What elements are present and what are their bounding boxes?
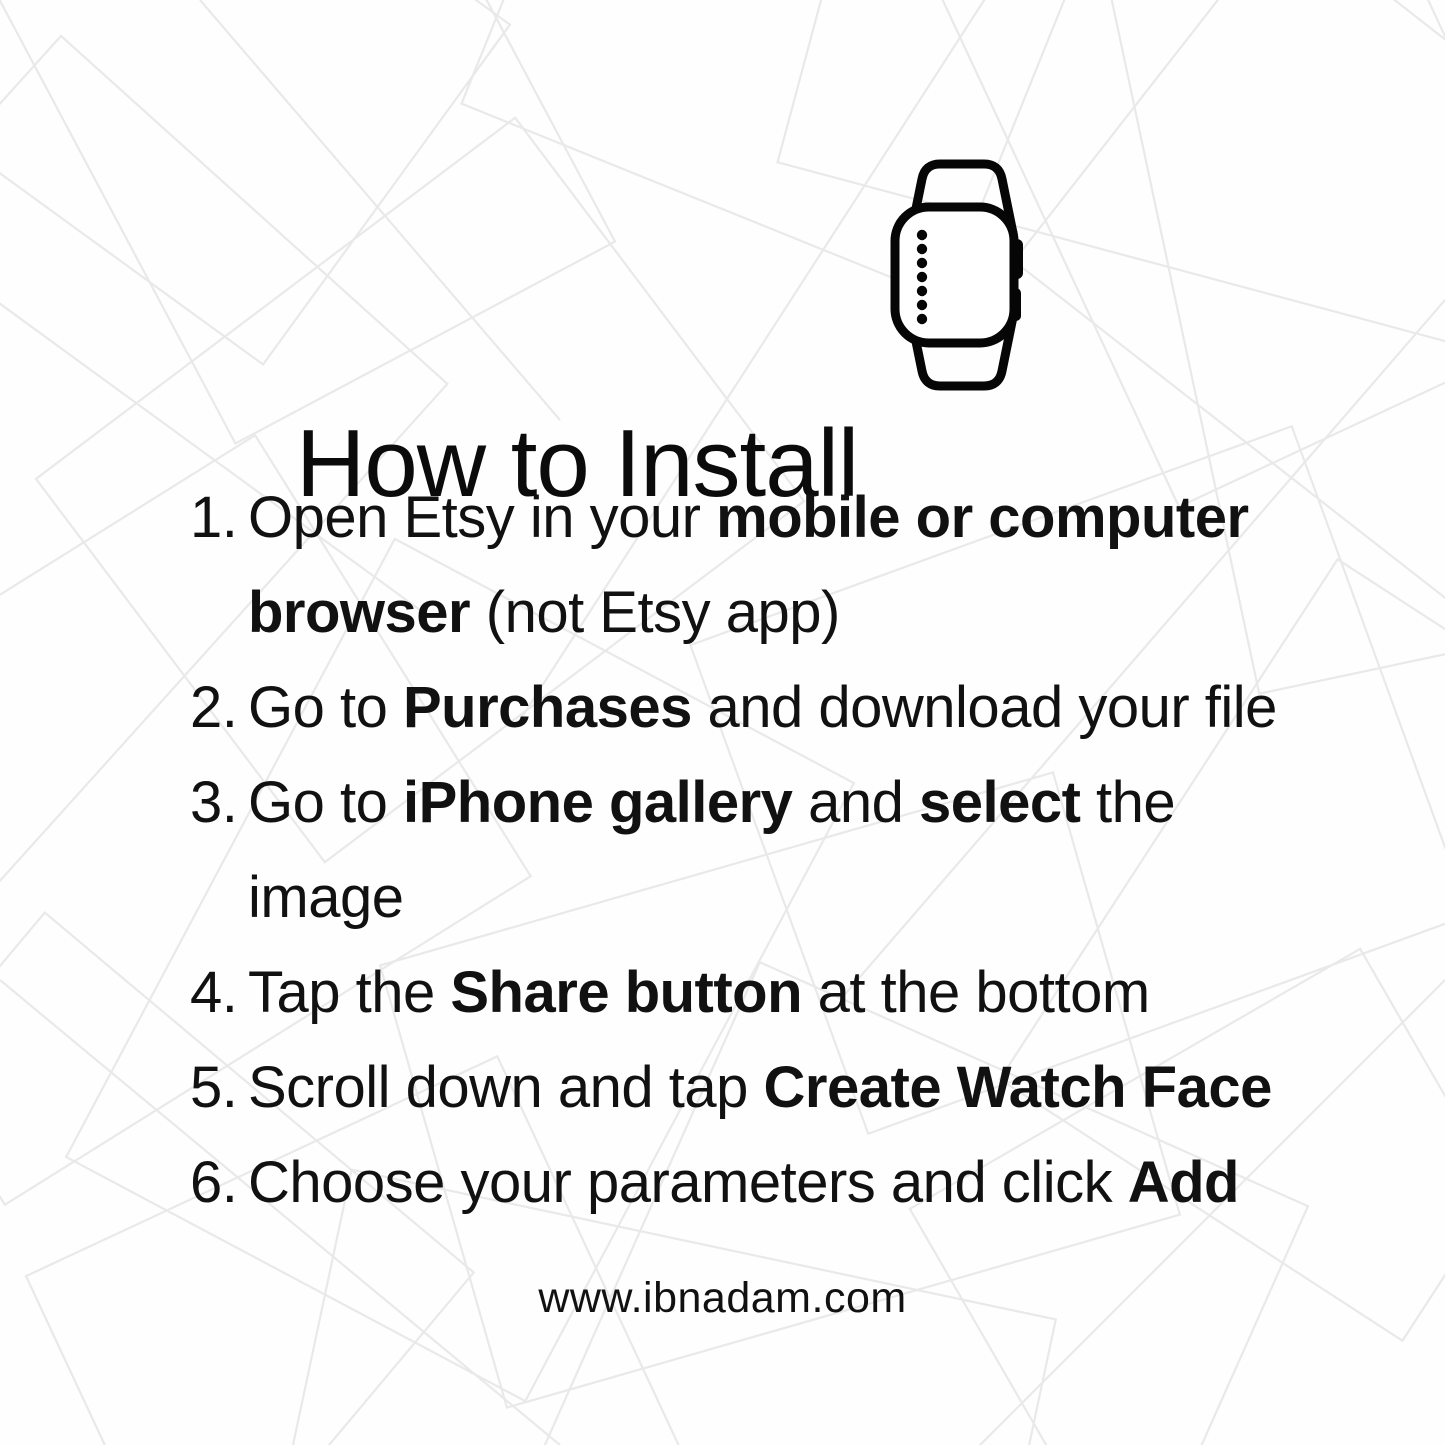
step-text: Scroll down and tap Create Watch Face xyxy=(248,1040,1280,1135)
step-text: Tap the Share button at the bottom xyxy=(248,945,1280,1040)
step-text: Choose your parameters and click Add xyxy=(248,1135,1280,1230)
step-number: 3. xyxy=(190,755,248,850)
list-item: 3.Go to iPhone gallery and select the im… xyxy=(190,755,1280,945)
apple-watch-icon xyxy=(878,155,1043,395)
list-item: 6.Choose your parameters and click Add xyxy=(190,1135,1280,1230)
step-text: Go to Purchases and download your file xyxy=(248,660,1280,755)
header: How to Install xyxy=(0,150,1445,390)
step-text: Open Etsy in your mobile or computer bro… xyxy=(248,470,1280,660)
list-item: 1.Open Etsy in your mobile or computer b… xyxy=(190,470,1280,660)
website-url: www.ibnadam.com xyxy=(0,1272,1445,1324)
list-item: 2.Go to Purchases and download your file xyxy=(190,660,1280,755)
step-number: 6. xyxy=(190,1135,248,1230)
step-plain: Go to xyxy=(248,770,403,835)
install-steps-list: 1.Open Etsy in your mobile or computer b… xyxy=(190,470,1280,1230)
footer: www.ibnadam.com xyxy=(0,1272,1445,1324)
step-emphasis: Create Watch Face xyxy=(764,1055,1272,1120)
step-plain: Scroll down and tap xyxy=(248,1055,764,1120)
step-plain: and download your file xyxy=(692,675,1277,740)
step-plain: Tap the xyxy=(248,960,450,1025)
step-plain: Open Etsy in your xyxy=(248,485,716,550)
step-plain: and xyxy=(792,770,919,835)
step-emphasis: Add xyxy=(1128,1150,1239,1215)
step-number: 4. xyxy=(190,945,248,1040)
step-number: 5. xyxy=(190,1040,248,1135)
step-emphasis: Purchases xyxy=(403,675,692,740)
instruction-card: How to Install 1.Open Etsy xyxy=(0,0,1445,1445)
step-plain: Go to xyxy=(248,675,403,740)
step-emphasis: Share button xyxy=(450,960,802,1025)
list-item: 4.Tap the Share button at the bottom xyxy=(190,945,1280,1040)
step-emphasis: iPhone gallery xyxy=(403,770,792,835)
step-number: 1. xyxy=(190,470,248,565)
step-number: 2. xyxy=(190,660,248,755)
step-plain: (not Etsy app) xyxy=(470,580,840,645)
step-plain: at the bottom xyxy=(802,960,1150,1025)
list-item: 5.Scroll down and tap Create Watch Face xyxy=(190,1040,1280,1135)
step-emphasis: select xyxy=(919,770,1080,835)
step-text: Go to iPhone gallery and select the imag… xyxy=(248,755,1280,945)
step-plain: Choose your parameters and click xyxy=(248,1150,1128,1215)
